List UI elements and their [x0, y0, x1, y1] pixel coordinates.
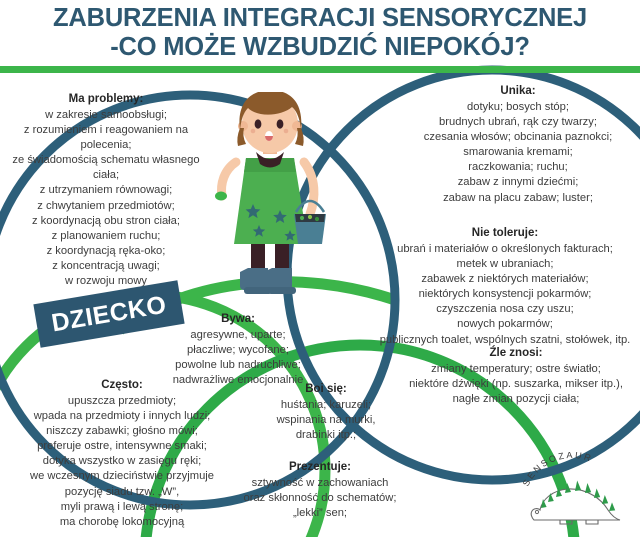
block-line: ubrań i materiałów o określonych faktura…	[372, 242, 638, 257]
block-line: powolne lub nadruchliwe;	[152, 358, 324, 373]
block-line: we wczesnym dzieciństwie przyjmuje	[6, 469, 238, 484]
title-divider	[0, 66, 640, 73]
block-line: z koordynacją ręka-oko;	[2, 244, 210, 259]
block-line: ciała;	[2, 168, 210, 183]
block-prezentuje: Prezentuje: sztywność w zachowaniach ora…	[230, 460, 410, 521]
block-line: w zakresie samoobsługi;	[2, 108, 210, 123]
block-line: zmiany temperatury; ostre światło;	[392, 362, 640, 377]
block-line: czesania włosów; obcinania paznokci;	[398, 130, 638, 145]
block-line: ma chorobę lokomocyjną	[6, 515, 238, 530]
sensozaur-logo: SENSOZAUR	[516, 452, 628, 526]
block-line: zabaw z innymi dziećmi;	[398, 175, 638, 190]
block-line: płaczliwe; wycofane;	[152, 343, 324, 358]
block-line: wspinania na murki,	[250, 413, 402, 428]
block-line: z koordynacją obu stron ciała;	[2, 214, 210, 229]
block-heading: Często:	[6, 378, 238, 393]
block-line: w rozwoju mowy	[2, 274, 210, 289]
block-line: dotyka wszystko w zasięgu ręki;	[6, 454, 238, 469]
block-line: upuszcza przedmioty;	[6, 394, 238, 409]
block-line: polecenia;	[2, 138, 210, 153]
block-line: ze świadomością schematu własnego	[2, 153, 210, 168]
block-heading: Boi się:	[250, 382, 402, 397]
block-ma-problemy: Ma problemy: w zakresie samoobsługi; z r…	[2, 92, 210, 289]
block-czesto: Często: upuszcza przedmioty; wpada na pr…	[6, 378, 238, 530]
title-line-1: ZABURZENIA INTEGRACJI SENSORYCZNEJ	[0, 4, 640, 33]
block-line: preferuje ostre, intensywne smaki;	[6, 439, 238, 454]
block-line: metek w ubraniach;	[372, 257, 638, 272]
block-line: z koncentracją uwagi;	[2, 259, 210, 274]
block-line: z planowaniem ruchu;	[2, 229, 210, 244]
title-line-2: -CO MOŻE WZBUDZIĆ NIEPOKÓJ?	[0, 33, 640, 62]
block-line: dotyku; bosych stóp;	[398, 100, 638, 115]
girl-illustration	[196, 92, 346, 307]
block-line: czyszczenia nosa czy uszu;	[372, 302, 638, 317]
block-line: z chwytaniem przedmiotów;	[2, 199, 210, 214]
block-line: oraz skłonność do schematów;	[230, 491, 410, 506]
block-line: nagłe zmian pozycji ciała;	[392, 392, 640, 407]
block-heading: Źle znosi:	[392, 346, 640, 361]
block-line: niektóre dźwięki (np. suszarka, mikser i…	[392, 377, 640, 392]
block-line: „lekki” sen;	[230, 506, 410, 521]
block-heading: Ma problemy:	[2, 92, 210, 107]
block-unika: Unika: dotyku; bosych stóp; brudnych ubr…	[398, 84, 638, 206]
block-line: z rozumieniem i reagowaniem na	[2, 123, 210, 138]
block-line: sztywność w zachowaniach	[230, 476, 410, 491]
block-line: pozycję siadu tzw. „W”,	[6, 485, 238, 500]
block-line: smarowania kremami;	[398, 145, 638, 160]
block-line: zabawek z niektórych materiałów;	[372, 272, 638, 287]
block-zle-znosi: Źle znosi: zmiany temperatury; ostre świ…	[392, 346, 640, 407]
logo-wordmark: SENSOZAUR	[521, 452, 594, 488]
svg-text:SENSOZAUR: SENSOZAUR	[521, 452, 594, 488]
block-line: wpada na przedmioty i innych ludzi;	[6, 409, 238, 424]
block-line: drabinki itp.;	[250, 428, 402, 443]
block-line: huśtania; karuzeli;	[250, 398, 402, 413]
block-line: zabaw na placu zabaw; luster;	[398, 191, 638, 206]
block-line: z utrzymaniem równowagi;	[2, 183, 210, 198]
block-line: nowych pokarmów;	[372, 317, 638, 332]
block-line: niszczy zabawki; głośno mówi;	[6, 424, 238, 439]
block-boi-sie: Boi się: huśtania; karuzeli; wspinania n…	[250, 382, 402, 443]
infographic-canvas: ZABURZENIA INTEGRACJI SENSORYCZNEJ -CO M…	[0, 0, 640, 537]
block-heading: Prezentuje:	[230, 460, 410, 475]
block-heading: Unika:	[398, 84, 638, 99]
block-line: brudnych ubrań, rąk czy twarzy;	[398, 115, 638, 130]
block-line: agresywne, uparte;	[152, 328, 324, 343]
block-line: myli prawą i lewą stronę;	[6, 500, 238, 515]
block-line: raczkowania; ruchu;	[398, 160, 638, 175]
block-nie-toleruje: Nie toleruje: ubrań i materiałów o okreś…	[372, 226, 638, 348]
block-line: niektórych konsystencji pokarmów;	[372, 287, 638, 302]
block-heading: Nie toleruje:	[372, 226, 638, 241]
page-title: ZABURZENIA INTEGRACJI SENSORYCZNEJ -CO M…	[0, 4, 640, 62]
